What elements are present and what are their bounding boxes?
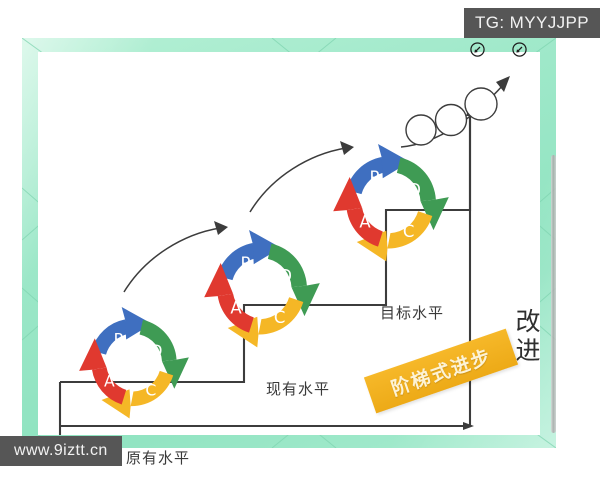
arrow-in-circle-icon[interactable] [470, 42, 485, 57]
step-label-original-level: 原有水平 [126, 447, 190, 468]
letter-p: P [241, 254, 251, 273]
letter-d: D [150, 341, 162, 360]
axis-label-improvement: 改 进 [515, 307, 541, 365]
telegram-watermark: TG: MYYJJPP [464, 8, 600, 38]
vertical-scrollbar[interactable] [551, 155, 556, 433]
pdca-wheel-step-2: P D C A [203, 230, 321, 348]
letter-c: C [403, 222, 415, 241]
letter-p: P [114, 329, 123, 348]
rolling-ball-1 [406, 115, 436, 145]
letter-a: A [359, 212, 371, 231]
letter-c: C [274, 308, 286, 327]
site-watermark: www.9iztt.cn [0, 436, 122, 466]
step-label-target-level: 目标水平 [380, 302, 444, 323]
step-label-current-level: 现有水平 [266, 378, 330, 399]
axis-label-char-1: 改 [515, 307, 541, 336]
letter-d: D [279, 267, 292, 286]
screenshot-stage: P D C A [0, 0, 600, 480]
pdca-wheel-step-3: P D C A [332, 144, 450, 262]
diagram-canvas: P D C A [38, 52, 540, 435]
baseline-arrowhead [463, 422, 474, 430]
rolling-ball-3 [465, 88, 497, 120]
arrow-in-circle-icon[interactable] [512, 42, 527, 57]
letter-c: C [145, 380, 156, 399]
rolling-ball-2 [436, 105, 467, 136]
letter-a: A [104, 371, 115, 390]
pdca-wheel-step-1: P D C A [78, 307, 190, 419]
letter-d: D [408, 181, 421, 200]
letter-a: A [230, 298, 242, 317]
axis-label-char-2: 进 [515, 336, 541, 365]
letter-p: P [370, 168, 380, 187]
